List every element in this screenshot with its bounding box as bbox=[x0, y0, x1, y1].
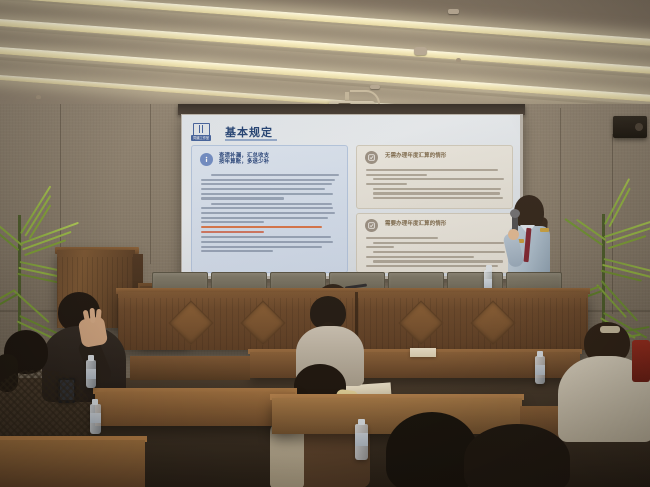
red-object bbox=[632, 340, 650, 382]
presentation-room-photo: 同道工作室 基本规定 查遗补漏，汇总收支 按年算账，多退少补 bbox=[0, 0, 650, 487]
slide-title: 基本规定 bbox=[225, 124, 273, 140]
foreground-desk-c bbox=[0, 440, 145, 487]
foreground-desk-a bbox=[95, 392, 295, 426]
water-bottle bbox=[86, 360, 96, 388]
water-bottle bbox=[484, 270, 492, 290]
projection-screen-surface: 同道工作室 基本规定 查遗补漏，汇总收支 按年算账，多退少补 bbox=[182, 115, 520, 276]
presenter-epaulette bbox=[540, 228, 549, 232]
mid-row-desk-left bbox=[130, 356, 250, 380]
slide-card-left-body bbox=[201, 174, 339, 255]
water-bottle bbox=[90, 404, 101, 434]
smoke-detector-icon bbox=[414, 47, 427, 55]
slide-card-right-bottom-body bbox=[366, 237, 504, 270]
sprinkler-icon-2 bbox=[36, 95, 41, 99]
check-square-icon-2 bbox=[365, 219, 378, 232]
slide-card-right-top: 无需办理年度汇算的情形 bbox=[356, 145, 513, 209]
ceiling bbox=[0, 0, 650, 118]
slide-card-right-bottom: 需要办理年度汇算的情形 bbox=[356, 213, 513, 273]
smoke-detector-icon-2 bbox=[448, 9, 459, 14]
studio-logo-text: 同道工作室 bbox=[191, 135, 211, 141]
slide-card-right-top-body bbox=[366, 169, 504, 202]
hair-clip-icon bbox=[600, 326, 620, 333]
presentation-slide: 同道工作室 基本规定 查遗补漏，汇总收支 按年算账，多退少补 bbox=[182, 115, 520, 276]
slide-title-rule bbox=[225, 139, 277, 141]
water-bottle bbox=[355, 424, 368, 460]
wall-speaker-icon bbox=[613, 116, 647, 138]
paper-document bbox=[410, 348, 436, 357]
smoke-detector-icon-3 bbox=[370, 85, 380, 89]
slide-card-right-bottom-heading: 需要办理年度汇算的情形 bbox=[385, 221, 505, 227]
check-square-icon bbox=[365, 151, 378, 164]
microphone-head bbox=[510, 209, 520, 218]
info-icon bbox=[200, 153, 213, 166]
slide-card-right-top-heading: 无需办理年度汇算的情形 bbox=[385, 153, 505, 159]
slide-card-left: 查遗补漏，汇总收支 按年算账，多退少补 bbox=[191, 145, 348, 273]
water-bottle bbox=[535, 356, 545, 384]
slide-card-left-heading: 查遗补漏，汇总收支 按年算账，多退少补 bbox=[219, 153, 339, 166]
sprinkler-icon bbox=[456, 58, 461, 62]
presenter-hand bbox=[508, 229, 519, 240]
studio-logo-icon: 同道工作室 bbox=[191, 123, 211, 141]
audience-member-foreground-right bbox=[464, 424, 574, 487]
